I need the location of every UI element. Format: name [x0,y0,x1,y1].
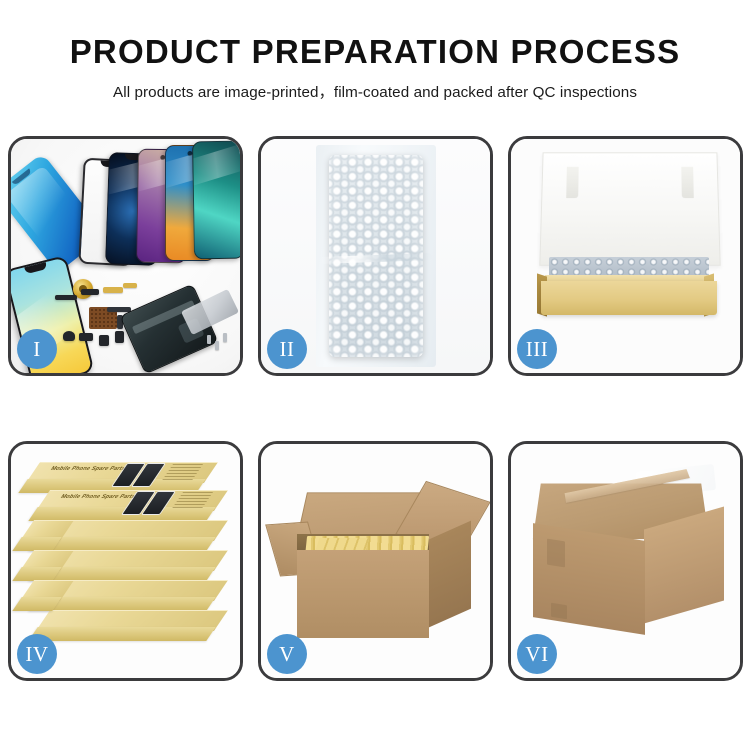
box-label-text: Mobile Phone Spare Parts [49,466,127,472]
page-header: PRODUCT PREPARATION PROCESS All products… [0,0,750,102]
carton-flap-seam [547,539,565,568]
kraft-box: Mobile Phone Spare Parts [23,462,211,492]
box-front-face [12,597,61,611]
stacked-kraft-boxes-icon: Mobile Phone Spare Parts Mobile Phone Sp… [17,458,237,668]
phone-screen-teal-icon [192,141,240,260]
carton-side-face [429,521,471,628]
step-badge-3: III [517,329,557,369]
kraft-box-back [17,520,57,550]
lid-tab-right [681,167,693,198]
step-badge-4: IV [17,634,57,674]
box-label-text: Mobile Phone Spare Parts [59,494,137,500]
box-lid-open-icon [539,152,720,265]
step-panel-2[interactable]: II [258,136,493,376]
kraft-tray-front-icon [541,281,717,315]
kraft-box-back [17,550,57,580]
screw-icon [207,335,211,344]
carton-flap-seam [551,603,567,620]
step-badge-2: II [267,329,307,369]
small-part-icon [115,331,124,343]
step-badge-1: I [17,329,57,369]
kraft-box [33,610,221,640]
step-badge-6: VI [517,634,557,674]
flex-cable-icon [103,287,123,293]
small-part-icon [55,295,77,300]
screw-icon [223,333,227,342]
carton-front-face [297,550,429,638]
box-front-face [12,567,61,581]
step-panel-3[interactable]: III [508,136,743,376]
box-front-face [28,627,215,641]
lid-tab-left [566,167,578,198]
step-panel-4[interactable]: Mobile Phone Spare Parts Mobile Phone Sp… [8,441,243,681]
page-title: PRODUCT PREPARATION PROCESS [0,34,750,71]
step-panel-6[interactable]: VI [508,441,743,681]
step-badge-5: V [267,634,307,674]
small-part-icon [63,331,75,341]
flex-cable-icon [123,283,137,288]
box-front-face [12,537,61,551]
step-panel-1[interactable]: I [8,136,243,376]
small-part-icon [81,289,99,295]
small-part-icon [99,335,109,346]
kraft-box: Mobile Phone Spare Parts [33,490,221,520]
kraft-box-back [17,580,57,610]
screen-glare [192,143,240,186]
page-subtitle: All products are image-printed，film-coat… [0,80,750,102]
screw-icon [215,341,219,350]
step-panel-5[interactable]: V [258,441,493,681]
small-part-icon [79,333,93,341]
process-steps-grid: I II III [8,136,742,681]
phone-notch [24,262,47,274]
